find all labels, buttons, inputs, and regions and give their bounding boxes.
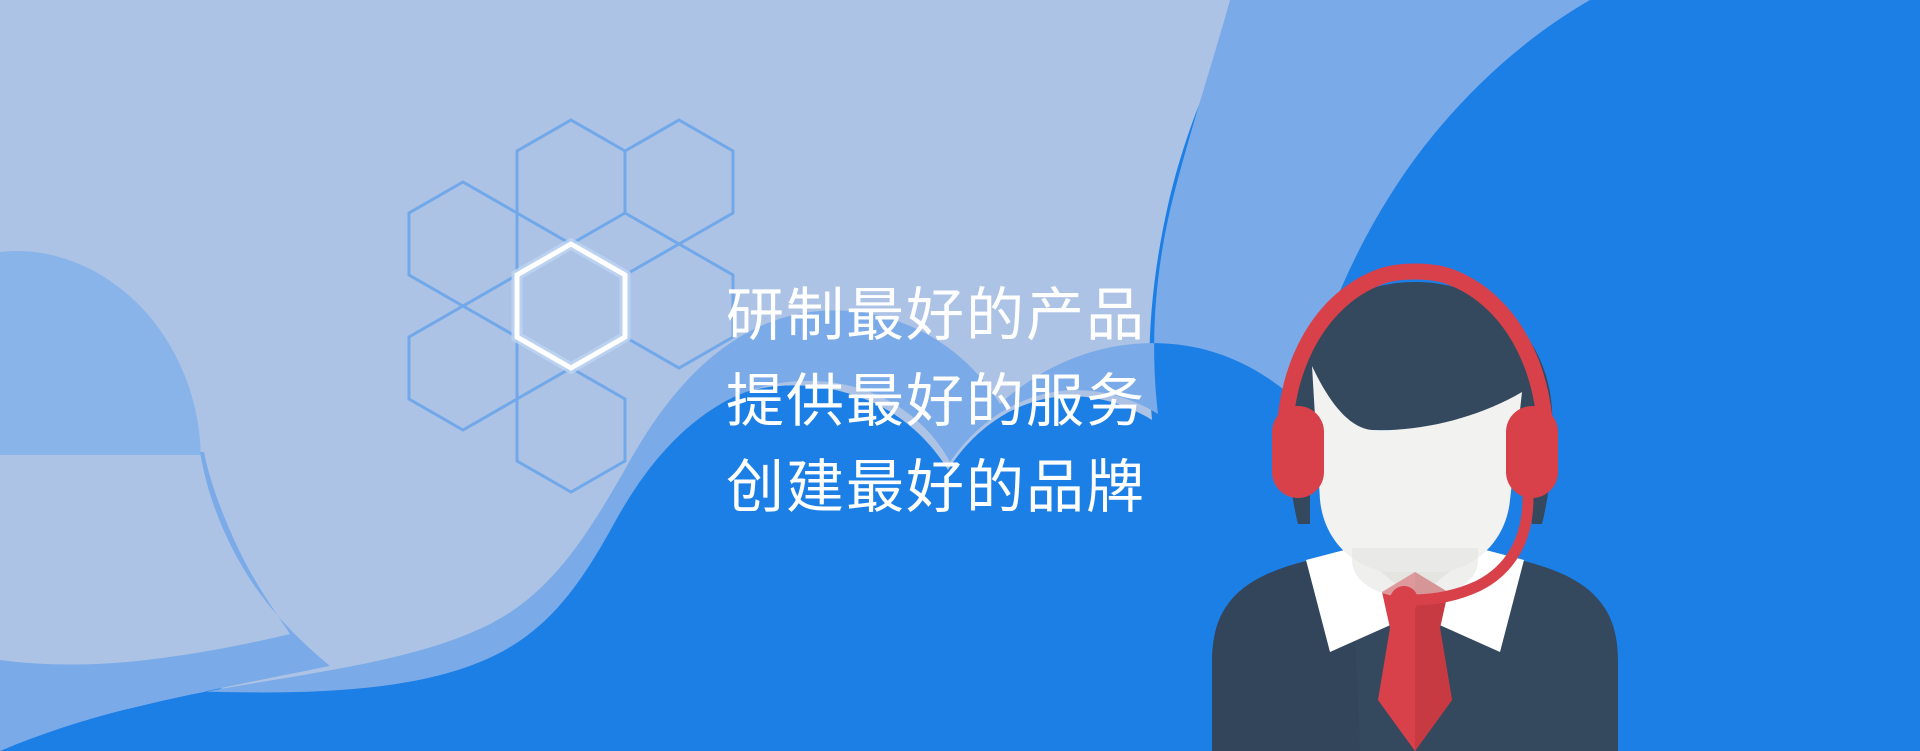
headset-mic-tip [1390,586,1418,614]
headset-earpiece-left [1272,406,1324,498]
slogan-line-3: 创建最好的品牌 [726,444,1246,530]
slogan-line-2: 提供最好的服务 [726,358,1246,444]
slogan-line-1: 研制最好的产品 [726,272,1246,358]
slogan-block: 研制最好的产品 提供最好的服务 创建最好的品牌 [726,272,1246,530]
promo-banner: 研制最好的产品 提供最好的服务 创建最好的品牌 [0,0,1920,751]
headset-earpiece-right [1506,406,1558,498]
